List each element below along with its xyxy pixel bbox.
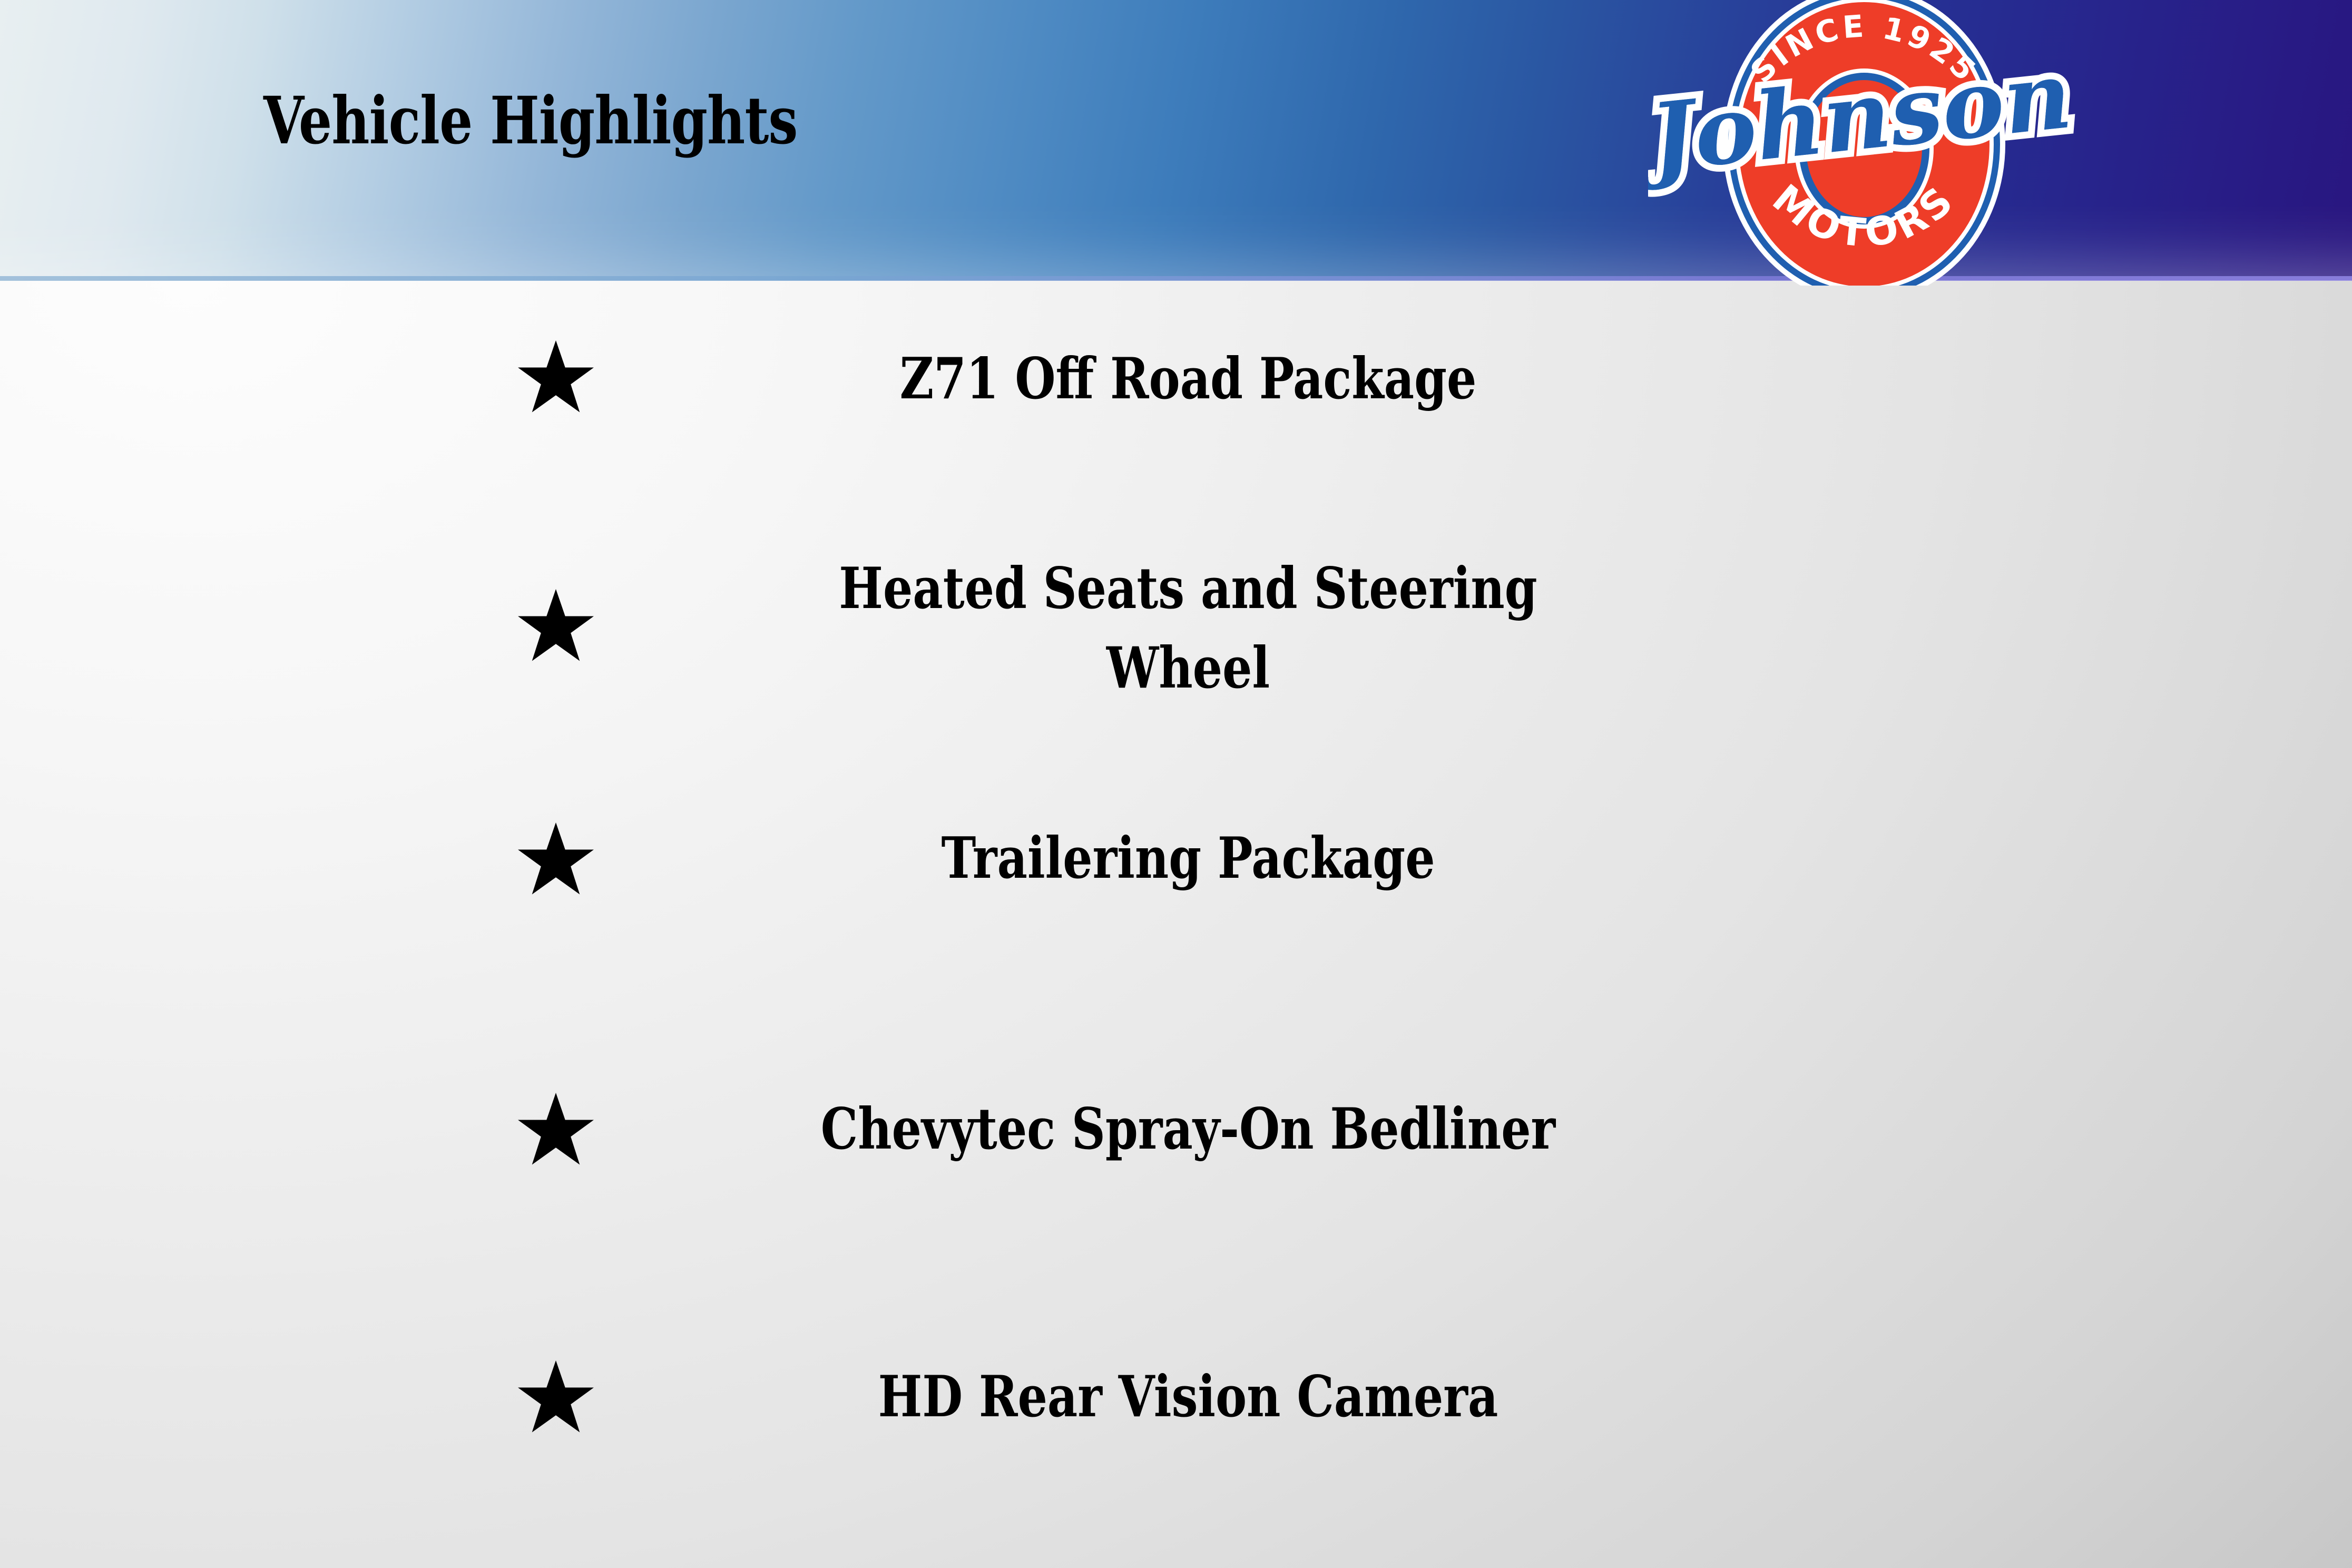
vehicle-highlights-list: Z71 Off Road Package Heated Seats and St… [0,280,2352,1568]
star-icon [516,820,595,897]
highlight-label: Trailering Package [758,819,1618,898]
page-title: Vehicle Highlights [263,89,798,154]
star-icon [516,338,595,415]
highlight-label: HD Rear Vision Camera [758,1357,1618,1437]
slide-canvas: Vehicle Highlights SINCE 1925 [0,0,2352,1568]
johnson-motors-logo: SINCE 1925 MOTORS Johnson Johnson [1648,0,2080,286]
star-icon [516,587,595,664]
star-icon [516,1358,595,1435]
highlight-label: Chevytec Spray-On Bedliner [758,1090,1618,1169]
highlight-label: Z71 Off Road Package [758,339,1618,419]
star-icon [516,1091,595,1168]
highlight-label: Heated Seats and Steering Wheel [758,549,1618,708]
